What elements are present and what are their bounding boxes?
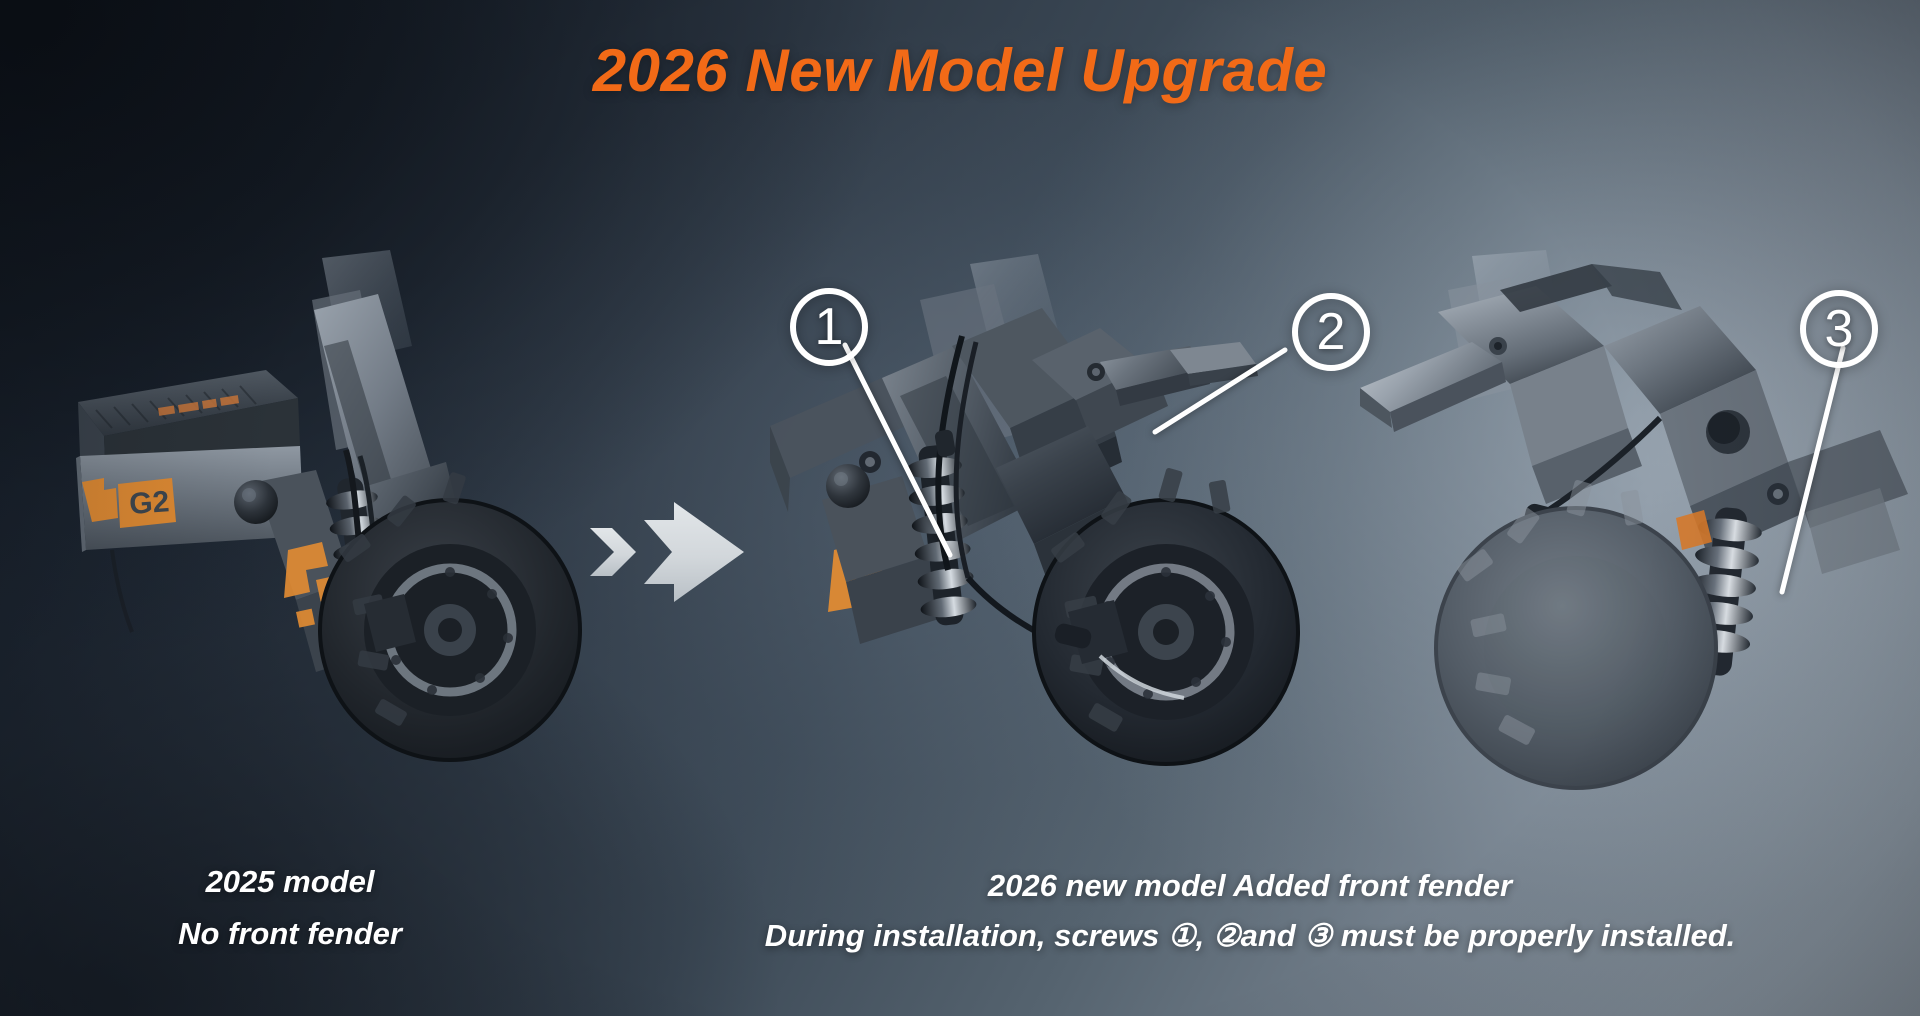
caption-2025-line1: 2025 model — [80, 856, 500, 908]
caption-2026-model: 2026 new model Added front fender During… — [620, 862, 1880, 962]
page-title: 2026 New Model Upgrade — [0, 36, 1920, 105]
caption-2025-line2: No front fender — [80, 908, 500, 960]
infographic-canvas: G2 — [0, 0, 1920, 1016]
callout-marker-3[interactable]: 3 — [1800, 290, 1878, 368]
callout-marker-2[interactable]: 2 — [1292, 293, 1370, 371]
caption-2025-model: 2025 model No front fender — [80, 856, 500, 960]
caption-2026-line2: During installation, screws ①, ②and ③ mu… — [620, 910, 1880, 962]
caption-2026-line1: 2026 new model Added front fender — [620, 862, 1880, 910]
callout-marker-1[interactable]: 1 — [790, 288, 868, 366]
